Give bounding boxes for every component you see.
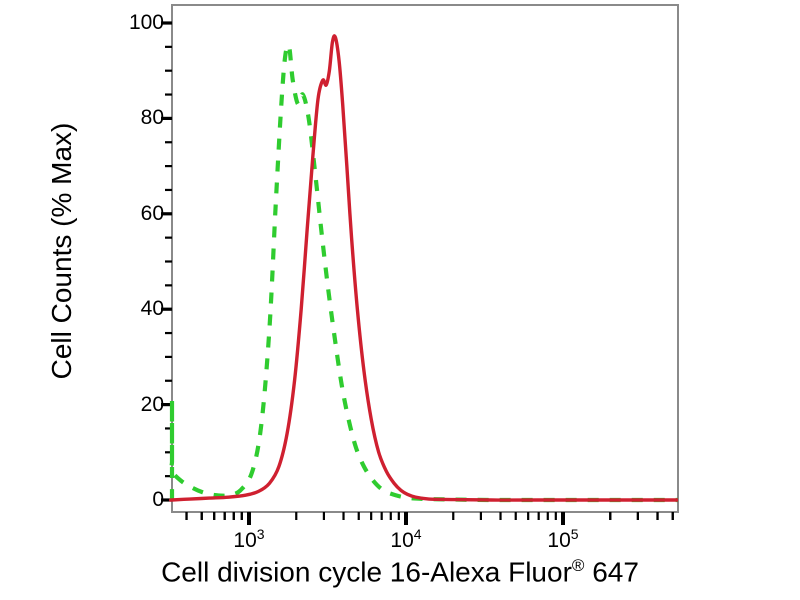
x-tick-exponent: 4 bbox=[414, 526, 422, 542]
x-axis-title: Cell division cycle 16-Alexa Fluor® 647 bbox=[0, 556, 800, 588]
y-axis-title: Cell Counts (% Max) bbox=[46, 41, 78, 461]
x-tick-mantissa: 10 bbox=[233, 529, 256, 552]
x-tick-mantissa: 10 bbox=[547, 529, 570, 552]
x-tick-label: 103 bbox=[233, 527, 264, 551]
x-axis-title-main: Cell division cycle 16-Alexa Fluor bbox=[161, 556, 572, 587]
x-tick-exponent: 5 bbox=[571, 526, 579, 542]
x-tick-mantissa: 10 bbox=[390, 529, 413, 552]
x-tick-label: 105 bbox=[547, 527, 578, 551]
flow-cytometry-histogram: 020406080100 103104105 Cell Counts (% Ma… bbox=[0, 0, 800, 600]
x-axis-tick-labels: 103104105 bbox=[0, 0, 800, 600]
x-tick-exponent: 3 bbox=[257, 526, 265, 542]
x-axis-title-suffix: 647 bbox=[584, 556, 639, 587]
x-tick-label: 104 bbox=[390, 527, 421, 551]
registered-trademark-icon: ® bbox=[572, 556, 585, 575]
